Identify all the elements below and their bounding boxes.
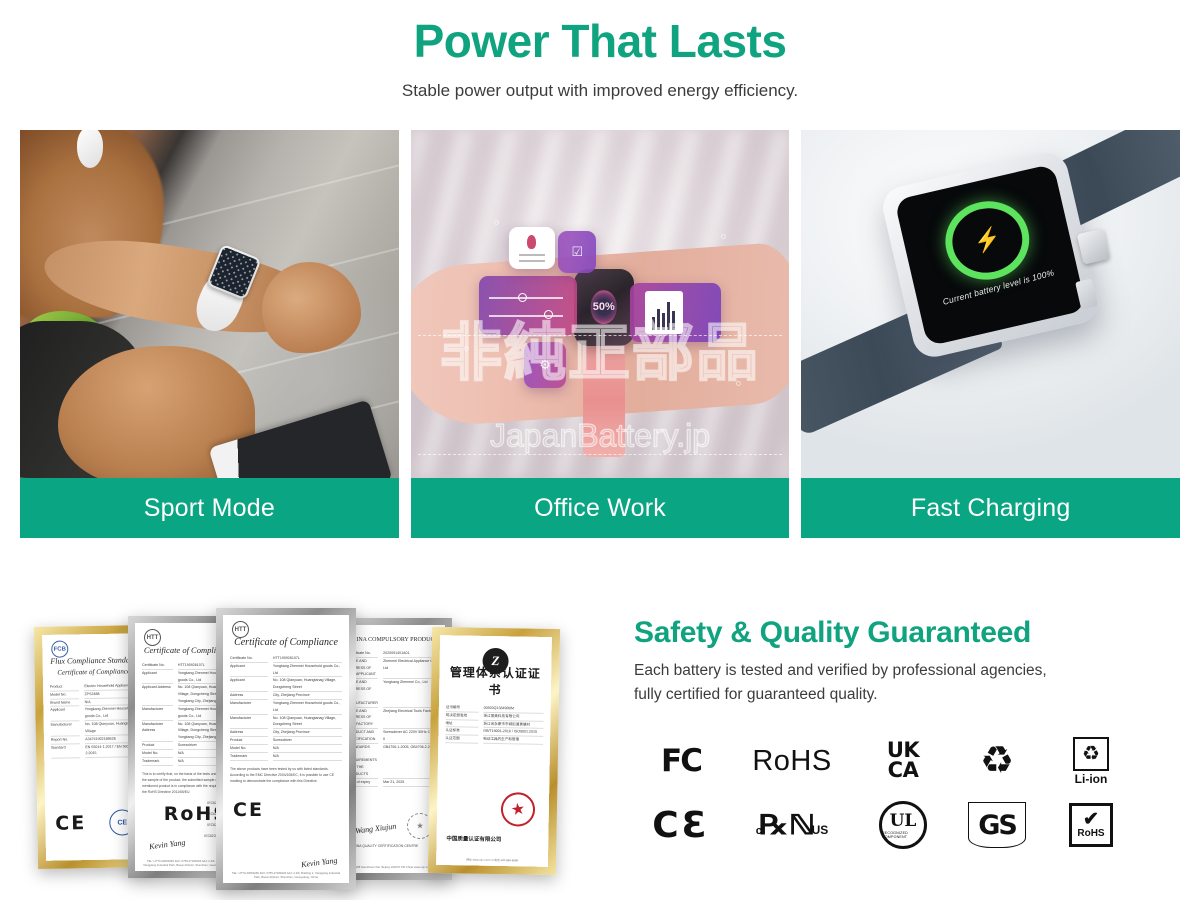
certificate-item[interactable]: Z 管理体系认证证书 证书编号 00920Q13849R0M 现决定颁发给 浙江… <box>428 627 560 875</box>
recycle-icon: ♻ <box>980 742 1014 780</box>
feature-card-row: Sport Mode 50% <box>20 130 1180 538</box>
cert-paragraph: The above products have been tested by u… <box>230 766 342 784</box>
cert-field-row: Date of expiry Mar 21, 2025 <box>348 779 438 787</box>
cert-field-row: NAME AND ADDRESS OF THE APPLICANT Zhenme… <box>348 658 438 679</box>
cert-field-list: Certificate No. HTT190926107L Applicant … <box>230 655 342 761</box>
cert-field-row: Manufacturer No. 108 Qianyuan, Huangtana… <box>51 720 139 736</box>
li-ion-recycle-symbol: ♻ <box>1073 737 1109 771</box>
smartwatch-office-icon: 50% <box>574 269 635 346</box>
cert-logo-htt: HTT <box>144 629 161 646</box>
feature-card-fast-charging[interactable]: ⚡ Current battery level is 100% Fast Cha… <box>801 130 1180 538</box>
cert-field-row: Applicant No. 108 Qianyuan, Huangtanag V… <box>230 677 342 692</box>
battery-percent-label: 50% <box>593 301 615 313</box>
cert-logo-htt: HTT <box>232 621 249 638</box>
rohs-badge: RoHS <box>728 730 856 792</box>
cert-field-row: Product Screwdriver <box>230 737 342 745</box>
cert-field-row: Standard EN 55014-1:2017 / EN 55014-2:20… <box>51 743 139 759</box>
cert-footer: TEL: HTT0-20060266 FAX: 0755-27189226 Ad… <box>229 871 343 881</box>
safety-title: Safety & Quality Guaranteed <box>634 616 1174 650</box>
cert-field-list: Product Electric Household Appliance Mod… <box>50 682 139 759</box>
gear-icon: ⚙ <box>539 357 551 373</box>
cert-field-list: Certificate No. 2020091401A01 NAME AND A… <box>348 650 438 787</box>
cert-footer: 网址 www.cqc.com.cn 电话 400-888-8888 <box>442 857 542 863</box>
ce-icon: CƐ <box>652 805 709 846</box>
safety-description-line1: Each battery is tested and verified by p… <box>634 659 1174 683</box>
fcc-badge: FC <box>634 730 728 792</box>
ui-tile-sliders <box>479 276 577 335</box>
safety-section: Safety & Quality Guaranteed Each battery… <box>634 616 1174 857</box>
c-ru-us-icon: c ℞ℕ US <box>756 810 829 841</box>
ui-tile-chart <box>630 283 721 342</box>
cert-field-row: Certificate No. HTT190926107L <box>230 655 342 663</box>
fcc-icon: FC <box>661 743 701 779</box>
badge-row: CƐ c ℞ℕ US UL RECOGNIZED COMPONENT <box>634 793 1174 857</box>
cert-field-row: Manufacturer No. 108 Qianyuan, Huangtana… <box>230 715 342 730</box>
cert-field-row: 认证范围 电动工具的生产和管理 <box>445 735 543 745</box>
cert-field-row: NAME AND ADDRESS OF THE MANUFACTURER Yon… <box>348 679 438 707</box>
safety-description: Each battery is tested and verified by p… <box>634 659 1174 707</box>
cert-issuer: 中国质量认证有限公司 <box>446 835 501 846</box>
cert-heading: Certificate of Compliance <box>50 667 138 677</box>
ui-tile-settings: ⚙ <box>524 342 566 387</box>
cert-signature: Kevin Yang <box>149 838 186 851</box>
rohs-icon: RoHS <box>752 745 831 778</box>
cert-field-row: Applicant Yongkang Zhenmei Household goo… <box>50 706 138 722</box>
cert-heading: Certificate of Compliance <box>230 637 342 648</box>
certificate-item[interactable]: HTT Certificate of Compliance Certificat… <box>216 608 356 890</box>
cert-signature: Wang Xiujun <box>355 822 397 836</box>
ukca-icon: UK CA <box>887 741 919 781</box>
safety-description-line2: fully certified for guaranteed quality. <box>634 683 1174 707</box>
smartwatch-charging-icon: ⚡ Current battery level is 100% <box>879 149 1103 361</box>
cert-field-row: STANDARDS AND REQUIREMENTS FOR THE PRODU… <box>348 744 438 779</box>
ui-tile-checkbox: ☑ <box>558 231 596 273</box>
li-ion-label: Li-ion <box>1075 772 1108 786</box>
ukca-badge: UK CA <box>856 730 950 792</box>
cert-ce-mark: CE <box>233 799 264 821</box>
feature-label-fast-charging: Fast Charging <box>801 478 1180 538</box>
ul-recognized-badge: UL RECOGNIZED COMPONENT <box>856 794 950 856</box>
certificate-gallery: FCB Flux Compliance Standard Certificate… <box>18 608 618 890</box>
certification-badges: FC RoHS UK CA ♻ ♻ Li-ion <box>634 729 1174 857</box>
cert-field-row: Address City, Zhejiang Province <box>230 729 342 737</box>
ui-tile-contact <box>509 227 554 269</box>
cert-field-row: Certificate No. 2020091401A01 <box>348 650 438 658</box>
li-ion-icon: ♻ Li-ion <box>1073 737 1109 786</box>
cert-field-row: NAME AND ADDRESS OF THE FACTORY Zhejiang… <box>348 708 438 729</box>
cert-ce-mark: CE <box>55 812 86 835</box>
cert-red-stamp-icon: ★ <box>499 790 537 828</box>
feature-label-sport-mode: Sport Mode <box>20 478 399 538</box>
cert-signer-title: CHINA QUALITY CERTIFICATION CENTRE <box>351 843 418 849</box>
feature-label-office-work: Office Work <box>411 478 790 538</box>
cert-field-row: Address City, Zhejiang Province <box>230 692 342 700</box>
page-header: Power That Lasts Stable power output wit… <box>0 0 1200 101</box>
c-ru-us-badge: c ℞ℕ US <box>728 794 856 856</box>
cert-footer: No.188 Nansihuan Xilu, Beijing 100070 P.… <box>347 865 439 870</box>
office-work-photo: 50% ☑ <box>411 130 790 478</box>
avatar <box>527 235 536 249</box>
fast-charging-photo: ⚡ Current battery level is 100% <box>801 130 1180 478</box>
cert-field-row: Applicant Yongkang Zhenmei Household goo… <box>230 663 342 678</box>
page-subtitle: Stable power output with improved energy… <box>0 81 1200 101</box>
cert-field-list: 证书编号 00920Q13849R0M 现决定颁发给 浙江振美科技有限公司 地址… <box>445 704 544 745</box>
li-ion-badge: ♻ Li-ion <box>1044 730 1138 792</box>
cert-field-row: Trademark N/A <box>230 753 342 761</box>
gs-icon: GS <box>968 802 1026 848</box>
recycle-badge: ♻ <box>950 730 1044 792</box>
product-feature-page: Power That Lasts Stable power output wit… <box>0 0 1200 900</box>
feature-card-office-work[interactable]: 50% ☑ <box>411 130 790 538</box>
ul-icon: UL RECOGNIZED COMPONENT <box>879 801 927 849</box>
cert-field-row: Manufacturer Yongkang Zhenmei Household … <box>230 700 342 715</box>
page-title: Power That Lasts <box>0 16 1200 67</box>
cert-heading: CHINA COMPULSORY PRODUCT CERTIFICATION <box>348 637 438 643</box>
rohs-check-icon: ✔ RoHS <box>1069 803 1113 847</box>
sport-mode-photo <box>20 130 399 478</box>
feature-card-sport-mode[interactable]: Sport Mode <box>20 130 399 538</box>
badge-row: FC RoHS UK CA ♻ ♻ Li-ion <box>634 729 1174 793</box>
cert-field-row: Model No. N/A <box>230 745 342 753</box>
cert-field-row: PRODUCT AND SPECIFICATION Screwdriver AC… <box>348 729 438 744</box>
rohs-check-badge: ✔ RoHS <box>1044 794 1138 856</box>
gs-badge: GS <box>950 794 1044 856</box>
check-square-icon: ☑ <box>571 244 583 260</box>
cert-signature: Kevin Yang <box>300 856 337 869</box>
cert-logo-fcb: FCB <box>51 640 68 657</box>
ce-badge: CƐ <box>634 794 728 856</box>
